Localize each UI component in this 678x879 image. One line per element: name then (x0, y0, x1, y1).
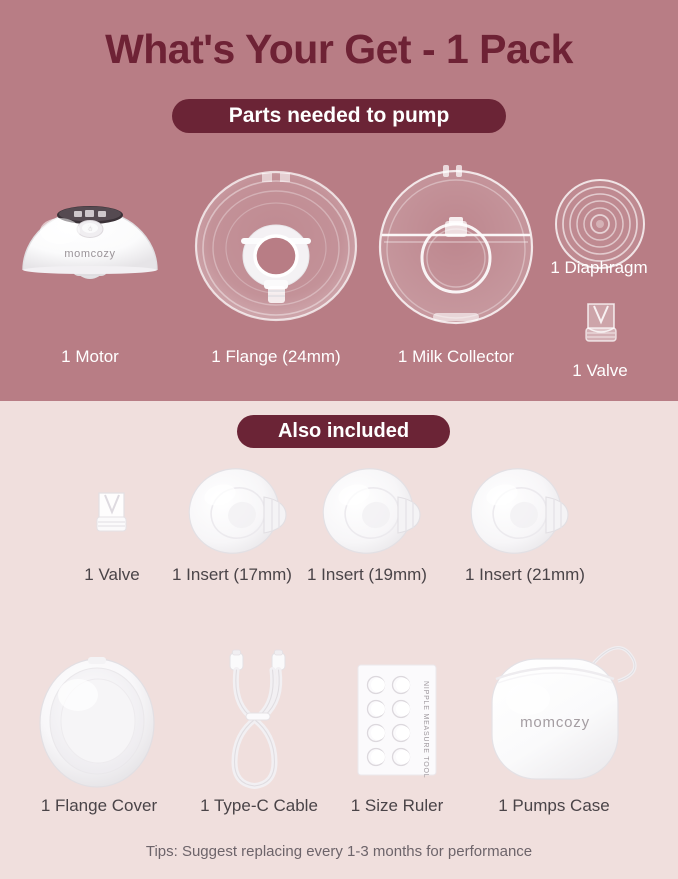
item-label-size-ruler: 1 Size Ruler (330, 796, 464, 816)
item-label-insert-21: 1 Insert (21mm) (459, 565, 591, 585)
item-label-flange-cover: 1 Flange Cover (26, 796, 172, 816)
product-contents-infographic: What's Your Get - 1 Pack Parts needed to… (0, 0, 678, 879)
diaphragm-icon (554, 178, 646, 270)
breast-pump-motor-icon: ☃ momcozy (20, 186, 160, 298)
brand-text-motor: momcozy (64, 248, 115, 260)
valve-icon (580, 300, 622, 348)
valve-icon (92, 489, 132, 539)
badge-parts-needed-to-pump: Parts needed to pump (172, 99, 506, 133)
item-label-valve-bottom: 1 Valve (52, 565, 172, 585)
item-label-pumps-case: 1 Pumps Case (474, 796, 634, 816)
item-label-type-c-cable: 1 Type-C Cable (182, 796, 336, 816)
page-title: What's Your Get - 1 Pack (0, 26, 678, 73)
item-label-insert-19: 1 Insert (19mm) (301, 565, 433, 585)
brand-text-case: momcozy (520, 714, 590, 731)
milk-collector-icon (373, 163, 539, 328)
item-label-valve-top: 1 Valve (532, 361, 668, 381)
flange-cover-icon (36, 651, 160, 791)
insert-icon (186, 461, 298, 561)
item-label-diaphragm: 1 Diaphragm (520, 258, 678, 278)
svg-text:☃: ☃ (87, 224, 93, 233)
badge-also-included: Also included (237, 415, 450, 448)
usb-c-cable-icon (210, 649, 306, 791)
item-label-motor: 1 Motor (14, 347, 166, 367)
item-label-flange: 1 Flange (24mm) (183, 347, 369, 367)
flange-icon (192, 168, 360, 328)
size-ruler-icon: NIPPLE MEASURE TOOL (356, 663, 440, 779)
ruler-caption: NIPPLE MEASURE TOOL (422, 681, 429, 778)
parts-needed-section: What's Your Get - 1 Pack Parts needed to… (0, 0, 678, 401)
insert-icon (468, 461, 580, 561)
pumps-case-icon: momcozy (480, 641, 644, 789)
item-label-milk-collector: 1 Milk Collector (373, 347, 539, 367)
tips-text: Tips: Suggest replacing every 1-3 months… (0, 843, 678, 860)
item-label-insert-17: 1 Insert (17mm) (166, 565, 298, 585)
insert-icon (320, 461, 432, 561)
also-included-section: Also included 1 Valve (0, 401, 678, 879)
